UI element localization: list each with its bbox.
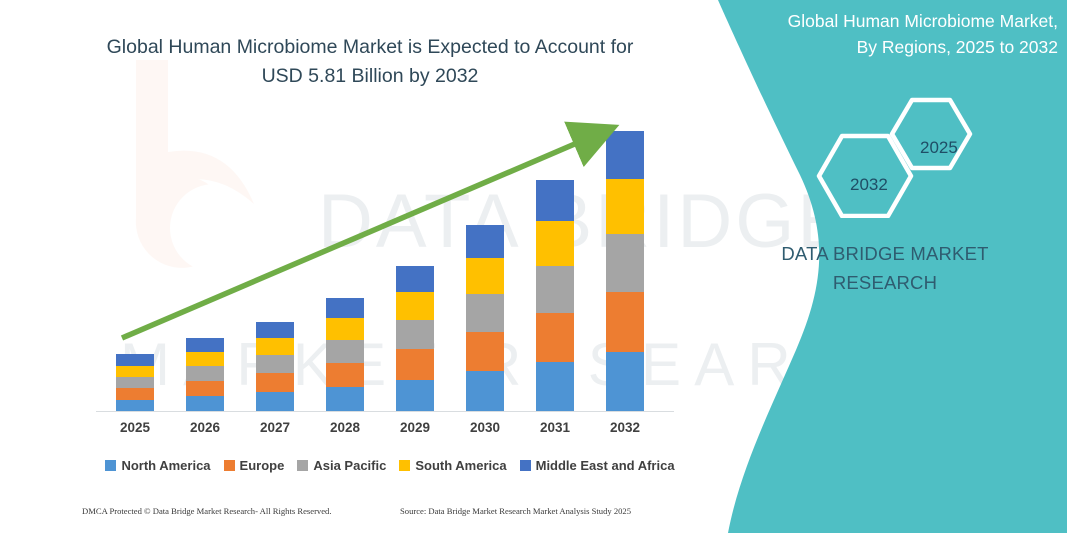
legend-swatch: [399, 460, 410, 471]
chart-legend: North AmericaEuropeAsia PacificSouth Ame…: [100, 455, 680, 475]
x-axis-label-2031: 2031: [525, 420, 585, 435]
footer: DMCA Protected © Data Bridge Market Rese…: [0, 506, 712, 526]
x-axis-label-2026: 2026: [175, 420, 235, 435]
legend-item-europe[interactable]: Europe: [224, 458, 285, 473]
x-axis-labels: 20252026202720282029203020312032: [100, 420, 660, 444]
stacked-bar-chart: 20252026202720282029203020312032 North A…: [0, 0, 712, 500]
legend-item-asia-pacific[interactable]: Asia Pacific: [297, 458, 386, 473]
teal-panel-content: Global Human Microbiome Market, By Regio…: [700, 0, 1067, 533]
panel-brand-line-1: DATA BRIDGE MARKET: [781, 243, 988, 264]
legend-item-south-america[interactable]: South America: [399, 458, 506, 473]
panel-brand-line-2: RESEARCH: [833, 272, 937, 293]
hexagon-label-end-year: 2032: [850, 175, 888, 195]
legend-item-north-america[interactable]: North America: [105, 458, 210, 473]
legend-label: Middle East and Africa: [536, 458, 675, 473]
x-axis-label-2029: 2029: [385, 420, 445, 435]
panel-title-line-1: Global Human Microbiome Market,: [788, 11, 1058, 31]
legend-swatch: [105, 460, 116, 471]
x-axis-label-2028: 2028: [315, 420, 375, 435]
legend-swatch: [520, 460, 531, 471]
x-axis-label-2025: 2025: [105, 420, 165, 435]
panel-title-line-2: By Regions, 2025 to 2032: [857, 37, 1058, 57]
infographic-canvas: DATA BRIDGE MARKET RESEARCH Global Human…: [0, 0, 1067, 533]
legend-label: Europe: [240, 458, 285, 473]
legend-label: Asia Pacific: [313, 458, 386, 473]
panel-title: Global Human Microbiome Market, By Regio…: [740, 8, 1058, 61]
footer-source: Source: Data Bridge Market Research Mark…: [400, 506, 631, 516]
x-axis-label-2027: 2027: [245, 420, 305, 435]
legend-swatch: [297, 460, 308, 471]
footer-copyright: DMCA Protected © Data Bridge Market Rese…: [82, 506, 332, 516]
hexagon-label-start-year: 2025: [920, 138, 958, 158]
legend-label: South America: [415, 458, 506, 473]
x-axis-line: [96, 411, 674, 412]
hexagon-group: 2025 2032: [808, 88, 998, 218]
hexagon-outlines-icon: [808, 88, 998, 218]
legend-item-middle-east-and-africa[interactable]: Middle East and Africa: [520, 458, 675, 473]
panel-brand-text: DATA BRIDGE MARKET RESEARCH: [720, 240, 1050, 297]
x-axis-label-2030: 2030: [455, 420, 515, 435]
growth-arrow-icon: [100, 110, 620, 410]
legend-label: North America: [121, 458, 210, 473]
legend-swatch: [224, 460, 235, 471]
x-axis-label-2032: 2032: [595, 420, 655, 435]
